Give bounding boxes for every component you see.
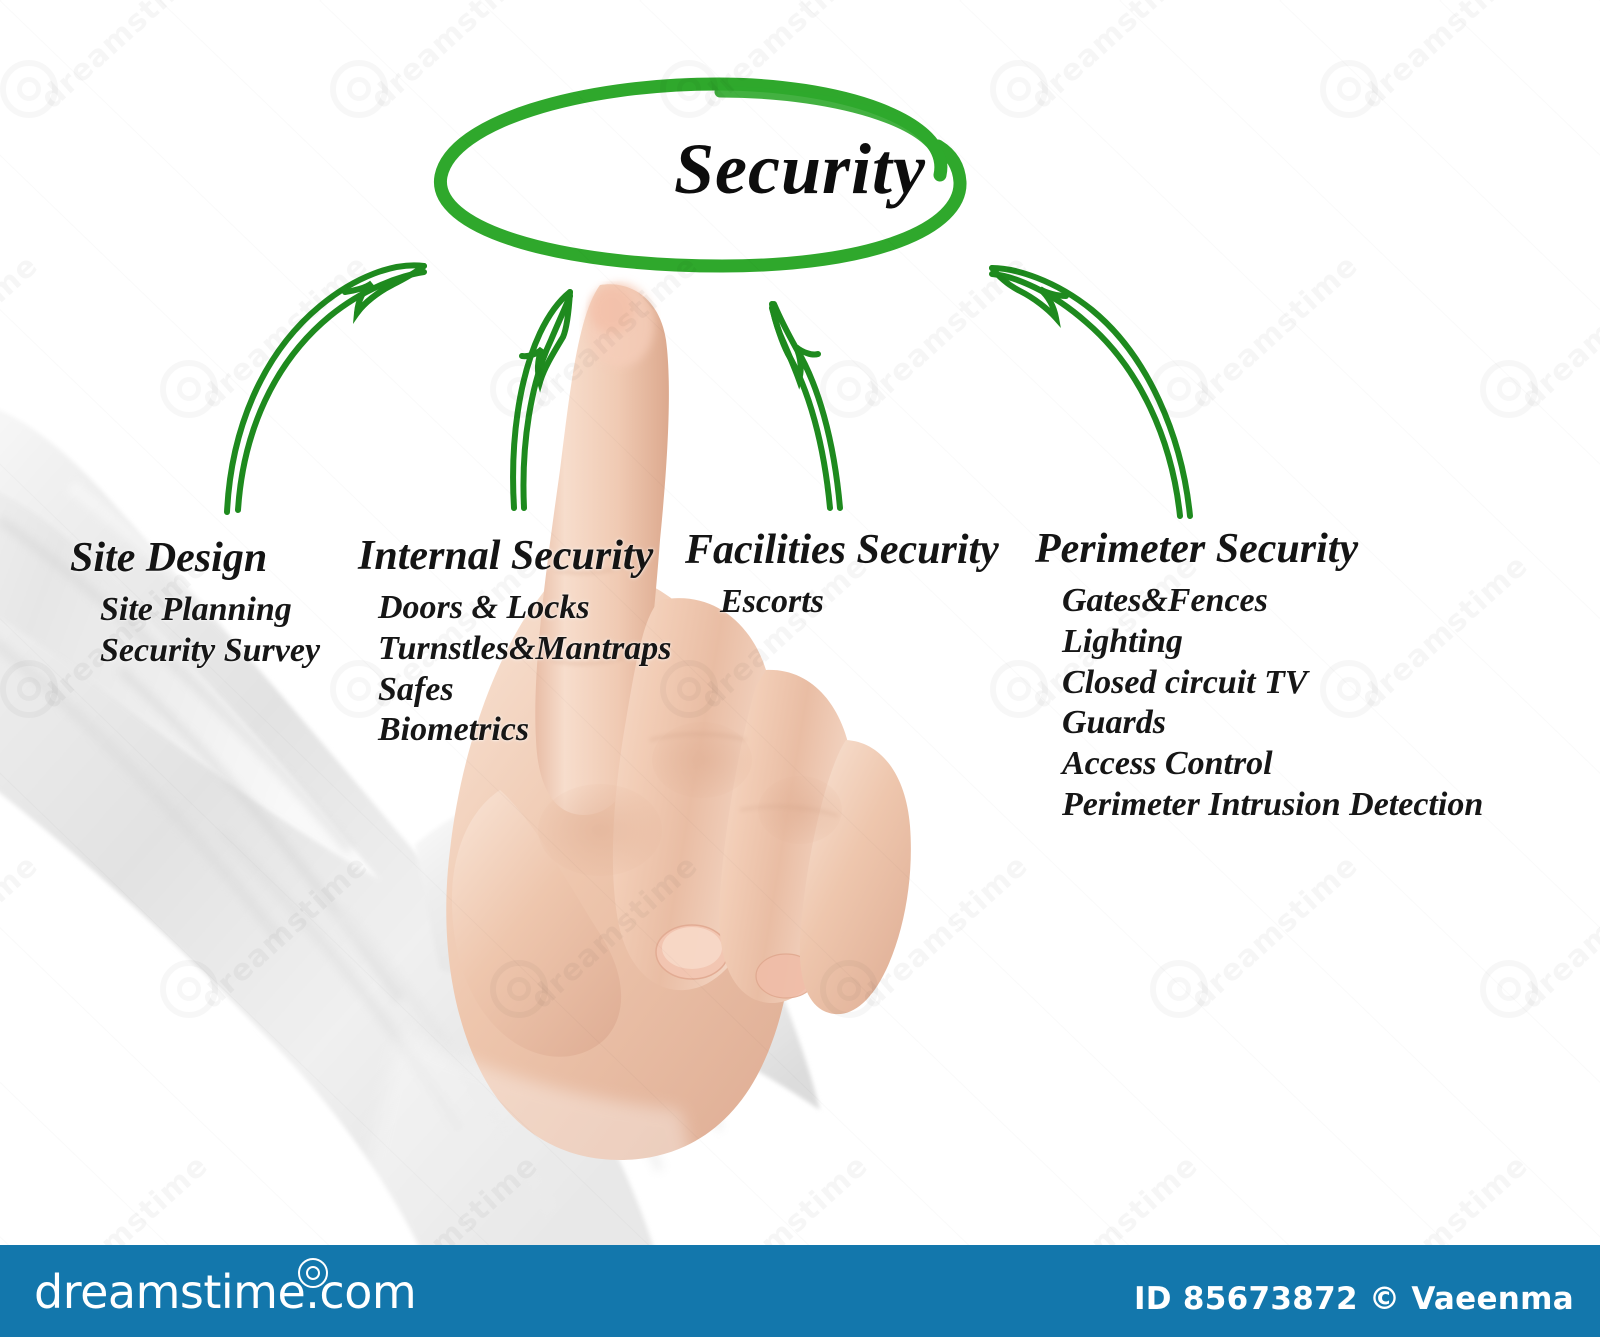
branch-item-list: Escorts: [720, 582, 999, 623]
list-item: Access Control: [1062, 744, 1483, 785]
branch-facilities-security: Facilities Security Escorts: [685, 528, 999, 623]
list-item: Closed circuit TV: [1062, 663, 1483, 704]
branch-item-list: Gates&Fences Lighting Closed circuit TV …: [1062, 581, 1483, 826]
arrow-internal-security: [513, 292, 570, 508]
list-item: Perimeter Intrusion Detection: [1062, 785, 1483, 826]
arrow-facilities-security: [772, 304, 840, 508]
branch-title: Perimeter Security: [1035, 527, 1483, 571]
screenshot-canvas: Security Site Design Site Planning Secur…: [0, 0, 1600, 1337]
arrow-site-design: [227, 265, 424, 512]
dreamstime-spiral-icon: [298, 1258, 328, 1288]
dreamstime-logo: dreamstime.com: [34, 1265, 416, 1319]
branch-site-design: Site Design Site Planning Security Surve…: [70, 536, 320, 672]
list-item: Guards: [1062, 703, 1483, 744]
list-item: Lighting: [1062, 622, 1483, 663]
branch-item-list: Site Planning Security Survey: [100, 590, 320, 672]
list-item: Gates&Fences: [1062, 581, 1483, 622]
branch-title: Facilities Security: [685, 528, 999, 572]
branch-item-list: Doors & Locks Turnstles&Mantraps Safes B…: [378, 588, 672, 751]
list-item: Doors & Locks: [378, 588, 672, 629]
list-item: Turnstles&Mantraps: [378, 629, 672, 670]
list-item: Escorts: [720, 582, 999, 623]
branch-title: Internal Security: [358, 534, 672, 578]
list-item: Site Planning: [100, 590, 320, 631]
branch-internal-security: Internal Security Doors & Locks Turnstle…: [358, 534, 672, 751]
image-credit: ID 85673872 © Vaeenma: [1134, 1281, 1574, 1317]
list-item: Security Survey: [100, 631, 320, 672]
page-title: Security: [0, 128, 1600, 211]
branch-perimeter-security: Perimeter Security Gates&Fences Lighting…: [1035, 527, 1483, 826]
list-item: Biometrics: [378, 710, 672, 751]
footer-bar: dreamstime.com ID 85673872 © Vaeenma: [0, 1245, 1600, 1337]
arrow-perimeter-security: [992, 268, 1190, 516]
branch-title: Site Design: [70, 536, 320, 580]
list-item: Safes: [378, 670, 672, 711]
